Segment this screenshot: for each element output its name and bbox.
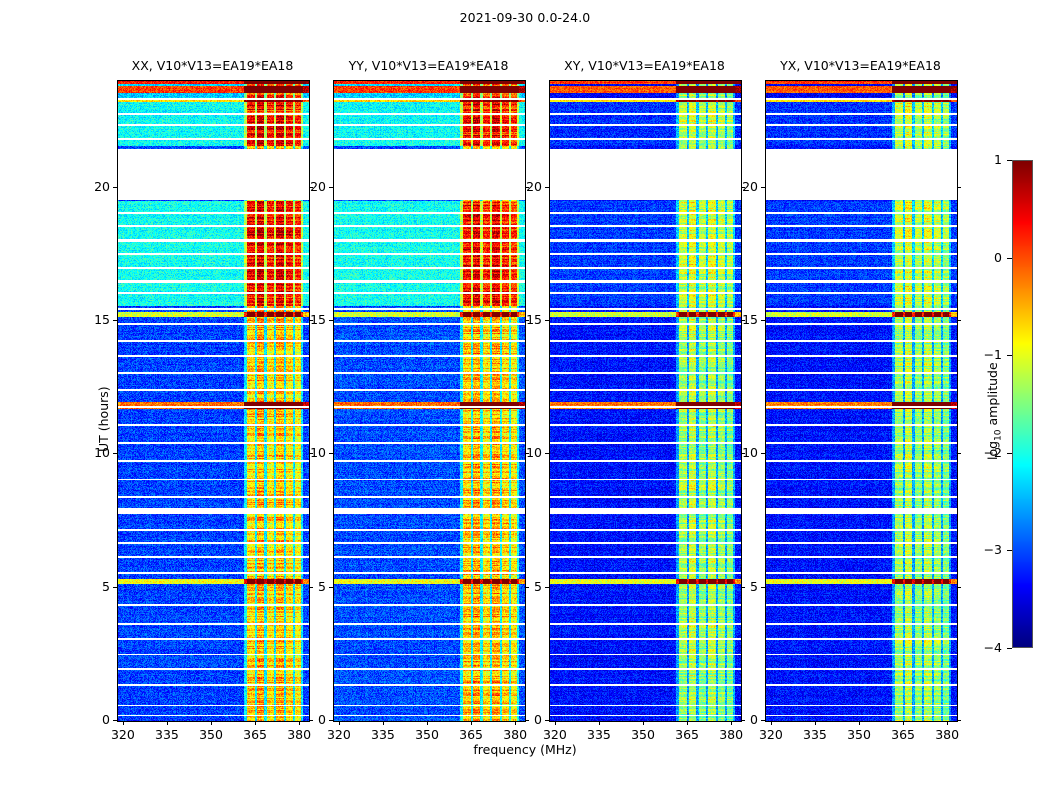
x-tickmark (211, 721, 212, 725)
y-ticklabel: 10 (292, 445, 326, 460)
y-tickmark (545, 720, 549, 721)
waterfall-image-yy (334, 81, 525, 721)
x-tickmark (771, 721, 772, 725)
colorbar-ticklabel: 1 (972, 152, 1002, 167)
y-axis-label: UT (hours) (96, 386, 111, 452)
colorbar-tickmark (1007, 160, 1012, 161)
colorbar-tickmark (1007, 648, 1012, 649)
colorbar-tickmark (1007, 258, 1012, 259)
y-ticklabel: 15 (292, 312, 326, 327)
y-ticklabel: 20 (724, 179, 758, 194)
y-ticklabel: 15 (76, 312, 110, 327)
x-tickmark (643, 721, 644, 725)
colorbar-label: log10 amplitude (985, 362, 1004, 460)
x-ticklabel: 320 (751, 727, 791, 742)
y-tickmark (329, 187, 333, 188)
x-ticklabel: 365 (883, 727, 923, 742)
y-tickmark (545, 320, 549, 321)
panel-xy (549, 80, 742, 722)
y-ticklabel: 5 (508, 579, 542, 594)
y-tickmark (329, 587, 333, 588)
y-tickmark (329, 320, 333, 321)
panel-yx (765, 80, 958, 722)
y-ticklabel: 20 (76, 179, 110, 194)
colorbar-gradient (1013, 161, 1032, 647)
x-tickmark (123, 721, 124, 725)
y-tickmark (113, 587, 117, 588)
y-tickmark-right (957, 453, 961, 454)
colorbar-ticklabel: −1 (972, 347, 1002, 362)
x-ticklabel: 365 (235, 727, 275, 742)
panel-title-xy: XY, V10*V13=EA19*EA18 (549, 58, 740, 73)
x-tickmark (947, 721, 948, 725)
panel-title-xx: XX, V10*V13=EA19*EA18 (117, 58, 308, 73)
colorbar-label-prefix: log (985, 441, 1000, 460)
x-ticklabel: 350 (623, 727, 663, 742)
x-ticklabel: 320 (319, 727, 359, 742)
y-tickmark (113, 453, 117, 454)
y-tickmark (761, 187, 765, 188)
x-ticklabel: 380 (495, 727, 535, 742)
x-tickmark (599, 721, 600, 725)
panel-title-yx: YX, V10*V13=EA19*EA18 (765, 58, 956, 73)
x-tickmark (687, 721, 688, 725)
colorbar-ticklabel: −4 (972, 640, 1002, 655)
x-tickmark (339, 721, 340, 725)
y-tickmark (113, 320, 117, 321)
y-tickmark (761, 320, 765, 321)
x-ticklabel: 320 (535, 727, 575, 742)
colorbar-ticklabel: 0 (972, 250, 1002, 265)
figure-canvas: 2021-09-30 0.0-24.0 XX, V10*V13=EA19*EA1… (0, 0, 1050, 800)
y-tickmark (329, 720, 333, 721)
x-ticklabel: 350 (839, 727, 879, 742)
y-tickmark (761, 453, 765, 454)
x-tickmark (383, 721, 384, 725)
figure-suptitle: 2021-09-30 0.0-24.0 (0, 10, 1050, 25)
x-ticklabel: 350 (407, 727, 447, 742)
y-ticklabel: 15 (724, 312, 758, 327)
x-ticklabel: 365 (667, 727, 707, 742)
y-ticklabel: 15 (508, 312, 542, 327)
x-ticklabel: 380 (927, 727, 967, 742)
y-ticklabel: 0 (724, 712, 758, 727)
y-tickmark-right (957, 720, 961, 721)
x-ticklabel: 335 (363, 727, 403, 742)
y-tickmark (545, 587, 549, 588)
x-ticklabel: 335 (579, 727, 619, 742)
panel-xx (117, 80, 310, 722)
colorbar-label-suffix: amplitude (985, 362, 1000, 429)
y-ticklabel: 20 (292, 179, 326, 194)
y-ticklabel: 0 (508, 712, 542, 727)
x-tickmark (555, 721, 556, 725)
x-ticklabel: 320 (103, 727, 143, 742)
x-tickmark (815, 721, 816, 725)
x-ticklabel: 380 (711, 727, 751, 742)
colorbar-ticklabel: −3 (972, 542, 1002, 557)
x-axis-label: frequency (MHz) (0, 742, 1050, 757)
y-tickmark (545, 187, 549, 188)
colorbar (1012, 160, 1033, 648)
y-tickmark (761, 720, 765, 721)
y-ticklabel: 5 (724, 579, 758, 594)
y-ticklabel: 0 (292, 712, 326, 727)
x-tickmark (167, 721, 168, 725)
colorbar-tickmark (1007, 453, 1012, 454)
y-tickmark-right (957, 187, 961, 188)
waterfall-image-yx (766, 81, 957, 721)
x-tickmark (255, 721, 256, 725)
y-ticklabel: 10 (724, 445, 758, 460)
y-ticklabel: 20 (508, 179, 542, 194)
x-ticklabel: 365 (451, 727, 491, 742)
y-ticklabel: 0 (76, 712, 110, 727)
x-ticklabel: 335 (795, 727, 835, 742)
waterfall-image-xy (550, 81, 741, 721)
y-tickmark (113, 187, 117, 188)
panel-yy (333, 80, 526, 722)
x-ticklabel: 350 (191, 727, 231, 742)
y-ticklabel: 10 (508, 445, 542, 460)
x-tickmark (903, 721, 904, 725)
colorbar-tickmark (1007, 355, 1012, 356)
panel-title-yy: YY, V10*V13=EA19*EA18 (333, 58, 524, 73)
y-tickmark-right (957, 587, 961, 588)
x-tickmark (427, 721, 428, 725)
x-tickmark (471, 721, 472, 725)
y-ticklabel: 5 (292, 579, 326, 594)
y-tickmark-right (957, 320, 961, 321)
y-tickmark (329, 453, 333, 454)
x-tickmark (859, 721, 860, 725)
y-ticklabel: 5 (76, 579, 110, 594)
colorbar-label-subscript: 10 (994, 429, 1004, 440)
y-tickmark (545, 453, 549, 454)
waterfall-image-xx (118, 81, 309, 721)
y-tickmark (113, 720, 117, 721)
x-ticklabel: 335 (147, 727, 187, 742)
colorbar-tickmark (1007, 550, 1012, 551)
y-tickmark (761, 587, 765, 588)
x-ticklabel: 380 (279, 727, 319, 742)
